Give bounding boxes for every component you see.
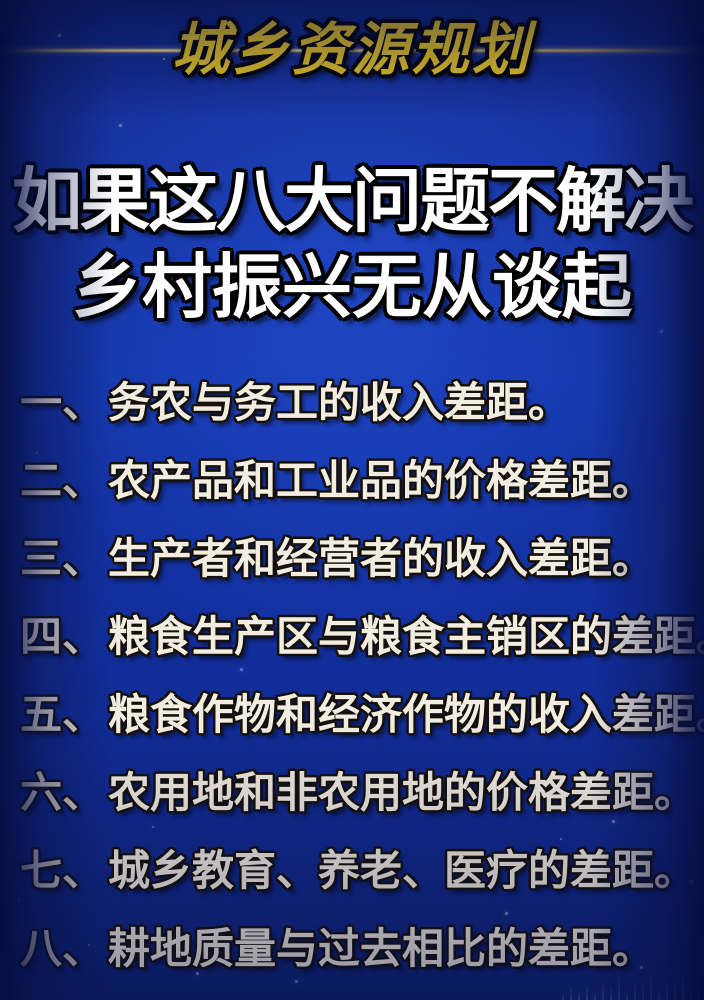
header-band: 城乡资源规划 <box>0 0 704 104</box>
list-item: 七、 城乡教育、养老、医疗的差距。 <box>0 846 704 924</box>
list-item-number: 七、 <box>20 846 104 896</box>
main-title-line-2: 乡村振兴无从谈起 <box>0 244 704 330</box>
list-item-text: 农用地和非农用地的价格差距。 <box>108 768 696 818</box>
list-item-text: 耕地质量与过去相比的差距。 <box>108 924 654 974</box>
header-title: 城乡资源规划 <box>0 8 704 92</box>
list-item: 三、 生产者和经营者的收入差距。 <box>0 534 704 612</box>
problem-list: 一、 务农与务工的收入差距。 二、 农产品和工业品的价格差距。 三、 生产者和经… <box>0 378 704 1000</box>
list-item-number: 六、 <box>20 768 104 818</box>
list-item-text: 生产者和经营者的收入差距。 <box>108 534 654 584</box>
list-item-text: 农产品和工业品的价格差距。 <box>108 456 654 506</box>
list-item-number: 四、 <box>20 612 104 662</box>
list-item: 一、 务农与务工的收入差距。 <box>0 378 704 456</box>
list-item: 八、 耕地质量与过去相比的差距。 <box>0 924 704 1000</box>
list-item-number: 三、 <box>20 534 104 584</box>
main-title: 如果这八大问题不解决 乡村振兴无从谈起 <box>0 158 704 330</box>
list-item-text: 粮食生产区与粮食主销区的差距。 <box>108 612 704 662</box>
list-item-text: 粮食作物和经济作物的收入差距。 <box>108 690 704 740</box>
list-item-number: 一、 <box>20 378 104 428</box>
list-item-number: 八、 <box>20 924 104 974</box>
list-item-text: 务农与务工的收入差距。 <box>108 378 570 428</box>
list-item: 四、 粮食生产区与粮食主销区的差距。 <box>0 612 704 690</box>
list-item: 六、 农用地和非农用地的价格差距。 <box>0 768 704 846</box>
main-title-line-1: 如果这八大问题不解决 <box>0 158 704 244</box>
poster-canvas: 城乡资源规划 如果这八大问题不解决 乡村振兴无从谈起 一、 务农与务工的收入差距… <box>0 0 704 1000</box>
list-item-text: 城乡教育、养老、医疗的差距。 <box>108 846 696 896</box>
list-item: 二、 农产品和工业品的价格差距。 <box>0 456 704 534</box>
list-item: 五、 粮食作物和经济作物的收入差距。 <box>0 690 704 768</box>
list-item-number: 二、 <box>20 456 104 506</box>
list-item-number: 五、 <box>20 690 104 740</box>
